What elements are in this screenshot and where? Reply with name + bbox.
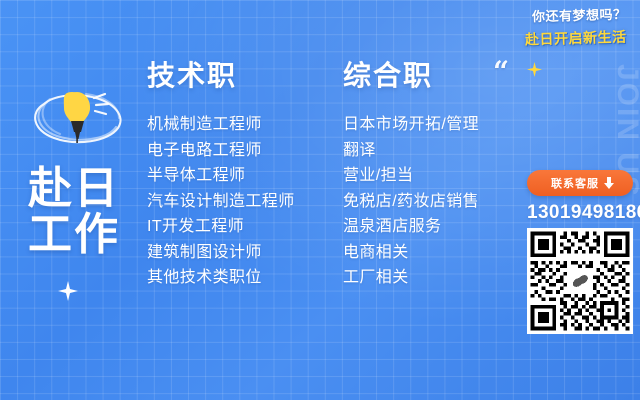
list-item[interactable]: 营业/担当 — [343, 163, 479, 189]
list-item[interactable]: 电商相关 — [343, 240, 479, 266]
column-general: 综合职 日本市场开拓/管理 翻译 营业/担当 免税店/药妆店销售 温泉酒店服务 … — [343, 60, 479, 291]
list-item[interactable]: 免税店/药妆店销售 — [343, 189, 479, 215]
lightbulb-icon — [20, 78, 132, 156]
phone-number[interactable]: 13019498186 — [527, 202, 633, 224]
brand-block: 赴日 工作 — [14, 78, 144, 260]
list-item[interactable]: 其他技术类职位 — [147, 265, 295, 291]
job-list-technical: 机械制造工程师 电子电路工程师 半导体工程师 汽车设计制造工程师 IT开发工程师… — [147, 112, 295, 291]
contact-block: 联系客服 13019498186 — [527, 170, 633, 334]
star-yellow-icon — [527, 62, 542, 77]
column-heading-technical: 技术职 — [147, 60, 295, 92]
qr-code-icon[interactable] — [527, 228, 633, 334]
quote-mark-icon: “ — [493, 58, 509, 86]
job-list-general: 日本市场开拓/管理 翻译 营业/担当 免税店/药妆店销售 温泉酒店服务 电商相关… — [343, 112, 479, 291]
list-item[interactable]: IT开发工程师 — [147, 214, 295, 240]
column-heading-general: 综合职 — [343, 60, 479, 92]
list-item[interactable]: 日本市场开拓/管理 — [343, 112, 479, 138]
column-technical: 技术职 机械制造工程师 电子电路工程师 半导体工程师 汽车设计制造工程师 IT开… — [147, 60, 295, 291]
poster-root: JOIN US 你还有梦想吗？ 赴日开启新生活 “ — [0, 0, 640, 400]
contact-service-button[interactable]: 联系客服 — [527, 170, 633, 196]
brand-title-line-1: 赴日 — [28, 164, 144, 214]
list-item[interactable]: 半导体工程师 — [147, 163, 295, 189]
list-item[interactable]: 建筑制图设计师 — [147, 240, 295, 266]
list-item[interactable]: 汽车设计制造工程师 — [147, 189, 295, 215]
slogan-line-2: 赴日开启新生活 — [524, 27, 626, 50]
star-white-icon — [58, 281, 78, 301]
contact-service-label: 联系客服 — [551, 175, 599, 191]
brand-title-line-2: 工作 — [28, 210, 144, 260]
slogan-block: 你还有梦想吗？ 赴日开启新生活 — [525, 6, 627, 48]
list-item[interactable]: 温泉酒店服务 — [343, 214, 479, 240]
list-item[interactable]: 工厂相关 — [343, 265, 479, 291]
slogan-line-1: 你还有梦想吗？ — [524, 5, 626, 28]
list-item[interactable]: 翻译 — [343, 138, 479, 164]
list-item[interactable]: 电子电路工程师 — [147, 138, 295, 164]
list-item[interactable]: 机械制造工程师 — [147, 112, 295, 138]
